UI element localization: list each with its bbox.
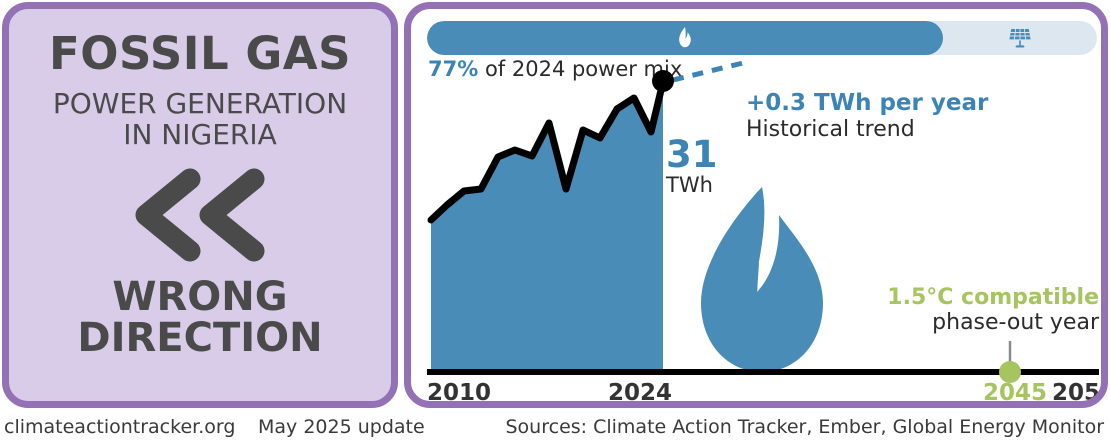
- x-tick-2024: 2024: [608, 380, 672, 406]
- footer-update-date: May 2025 update: [258, 416, 425, 438]
- footer-sources: Sources: Climate Action Tracker, Ember, …: [506, 416, 1105, 438]
- latest-value-unit: TWh: [666, 173, 718, 198]
- chart-panel: 77% of 2024 power mix: [404, 2, 1108, 408]
- footer-site-link[interactable]: climateactiontracker.org: [4, 416, 235, 438]
- x-tick-2050: 2050: [1052, 380, 1108, 406]
- page-subtitle: POWER GENERATION IN NIGERIA: [53, 88, 347, 151]
- verdict-text: WRONG DIRECTION: [77, 277, 322, 360]
- trend-leader-line: [673, 63, 743, 80]
- chart-stage: 77% of 2024 power mix: [411, 9, 1108, 408]
- footer: climateactiontracker.org May 2025 update…: [0, 412, 1110, 444]
- generation-area-chart: [411, 9, 1108, 408]
- phaseout-headline: 1.5°C compatible: [887, 285, 1099, 310]
- trend-name-label: Historical trend: [746, 117, 988, 142]
- historical-trend-annotation: +0.3 TWh per year Historical trend: [746, 91, 988, 142]
- infographic-root: FOSSIL GAS POWER GENERATION IN NIGERIA W…: [0, 0, 1110, 444]
- phaseout-annotation: 1.5°C compatible phase-out year: [887, 285, 1099, 335]
- trend-value-label: +0.3 TWh per year: [746, 91, 988, 117]
- x-tick-2010: 2010: [427, 380, 491, 406]
- latest-value-annotation: 31 TWh: [666, 137, 718, 197]
- latest-point-marker: [652, 70, 674, 92]
- verdict-line2: DIRECTION: [77, 318, 322, 360]
- page-subtitle-line1: POWER GENERATION: [53, 88, 347, 119]
- page-subtitle-line2: IN NIGERIA: [53, 119, 347, 150]
- summary-panel: FOSSIL GAS POWER GENERATION IN NIGERIA W…: [2, 2, 398, 408]
- gas-flame-illustration: [701, 187, 823, 372]
- verdict-line1: WRONG: [77, 277, 322, 319]
- double-chevron-left-icon: [120, 167, 280, 263]
- latest-value: 31: [666, 137, 718, 173]
- phaseout-sublabel: phase-out year: [887, 310, 1099, 335]
- x-tick-2045: 2045: [983, 380, 1047, 406]
- page-title: FOSSIL GAS: [49, 31, 351, 76]
